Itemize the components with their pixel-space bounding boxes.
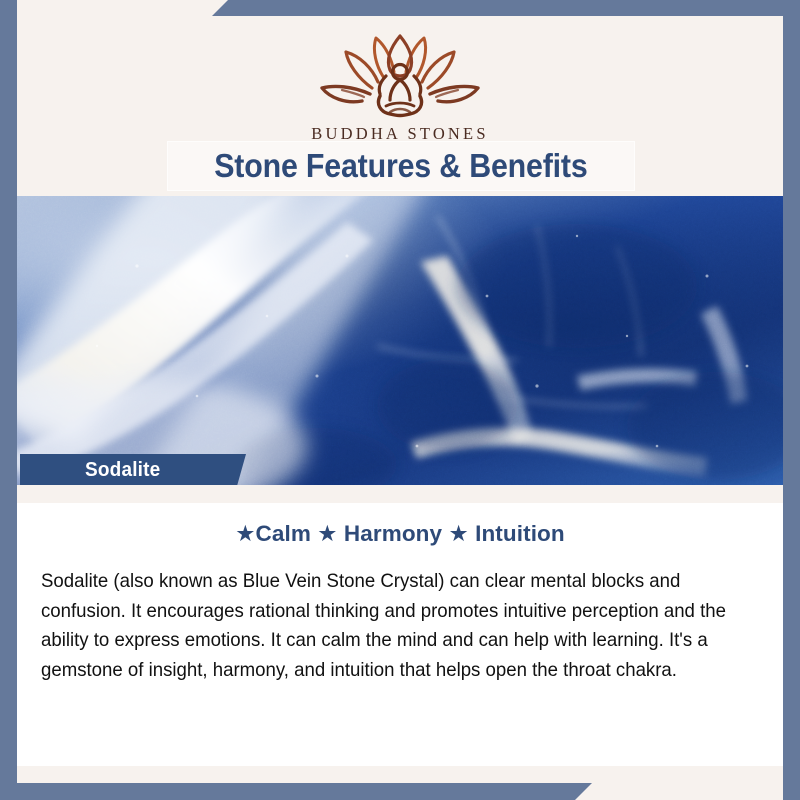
corner-frame-right-vertical — [783, 0, 800, 800]
page-title: Stone Features & Benefits — [214, 147, 587, 185]
content-panel: ★Calm ★ Harmony ★ Intuition Sodalite (al… — [17, 485, 783, 783]
stone-photo — [17, 196, 783, 485]
lotus-meditating-figure-icon — [312, 30, 488, 122]
stone-name-label: Sodalite — [85, 459, 160, 482]
stone-description: Sodalite (also known as Blue Vein Stone … — [41, 567, 739, 685]
corner-frame-top-right-horizontal — [212, 0, 800, 16]
panel-top-tint — [17, 485, 783, 503]
stone-keywords: ★Calm ★ Harmony ★ Intuition — [17, 521, 783, 547]
corner-frame-left-vertical — [0, 0, 17, 800]
brand-logo: BUDDHA STONES — [17, 30, 783, 144]
brand-wordmark: BUDDHA STONES — [311, 124, 488, 144]
title-plaque: Stone Features & Benefits — [168, 142, 634, 190]
stone-name-band: Sodalite — [20, 454, 246, 486]
sodalite-texture-illustration — [17, 196, 783, 485]
panel-bottom-tint — [17, 766, 783, 783]
poster-canvas: BUDDHA STONES Stone Features & Benefits — [0, 0, 800, 800]
corner-frame-bottom-left-horizontal — [0, 783, 592, 800]
